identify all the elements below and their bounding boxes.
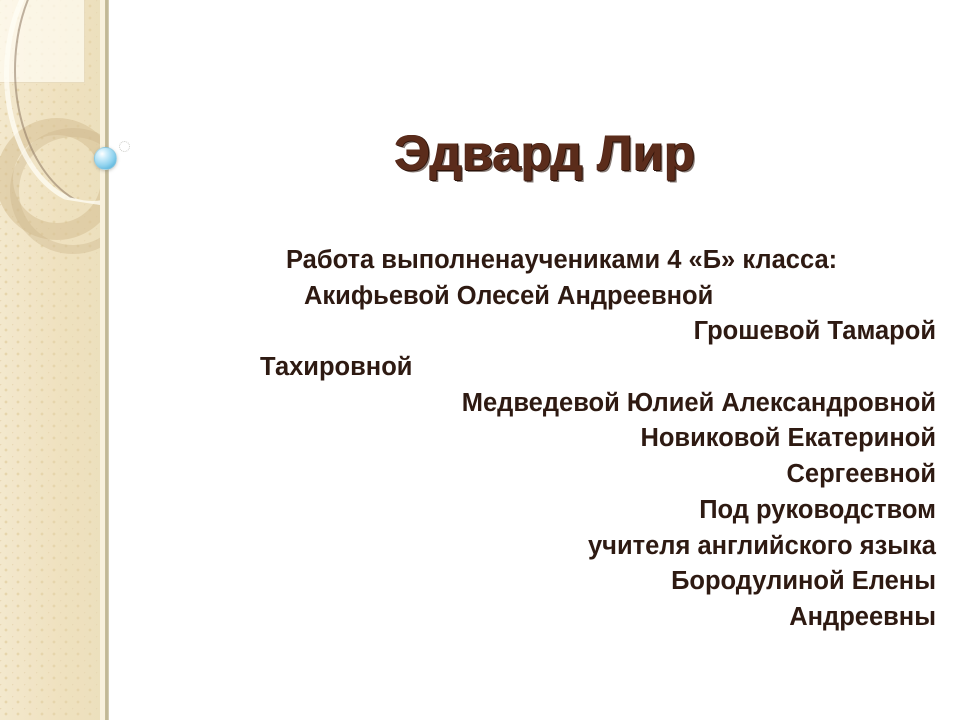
- page-title: Эдвард Лир: [150, 124, 940, 182]
- sidebar-outer-edge: [105, 0, 109, 720]
- body-line-3: Грошевой Тамарой: [260, 314, 936, 350]
- body-line-2: Акифьевой Олесей Андреевной: [260, 279, 936, 315]
- body-line-5: Медведевой Юлией Александровной: [260, 386, 936, 422]
- body-line-1: Работа выполненаучениками 4 «Б» класса:: [260, 243, 936, 279]
- presentation-slide: Эдвард Лир Работа выполненаучениками 4 «…: [0, 0, 960, 720]
- body-line-4: Тахировной: [260, 350, 936, 386]
- body-line-6: Новиковой Екатериной: [260, 421, 936, 457]
- body-line-9: учителя английского языка: [260, 529, 936, 565]
- body-line-8: Под руководством: [260, 493, 936, 529]
- body-text-block: Работа выполненаучениками 4 «Б» класса: …: [260, 243, 936, 636]
- blue-sphere-icon: [94, 147, 117, 170]
- body-line-7: Сергеевной: [260, 457, 936, 493]
- body-line-11: Андреевны: [260, 600, 936, 636]
- sparkle-circle-icon: [119, 141, 130, 152]
- decorative-sidebar: [0, 0, 103, 720]
- body-line-10: Бородулиной Елены: [260, 564, 936, 600]
